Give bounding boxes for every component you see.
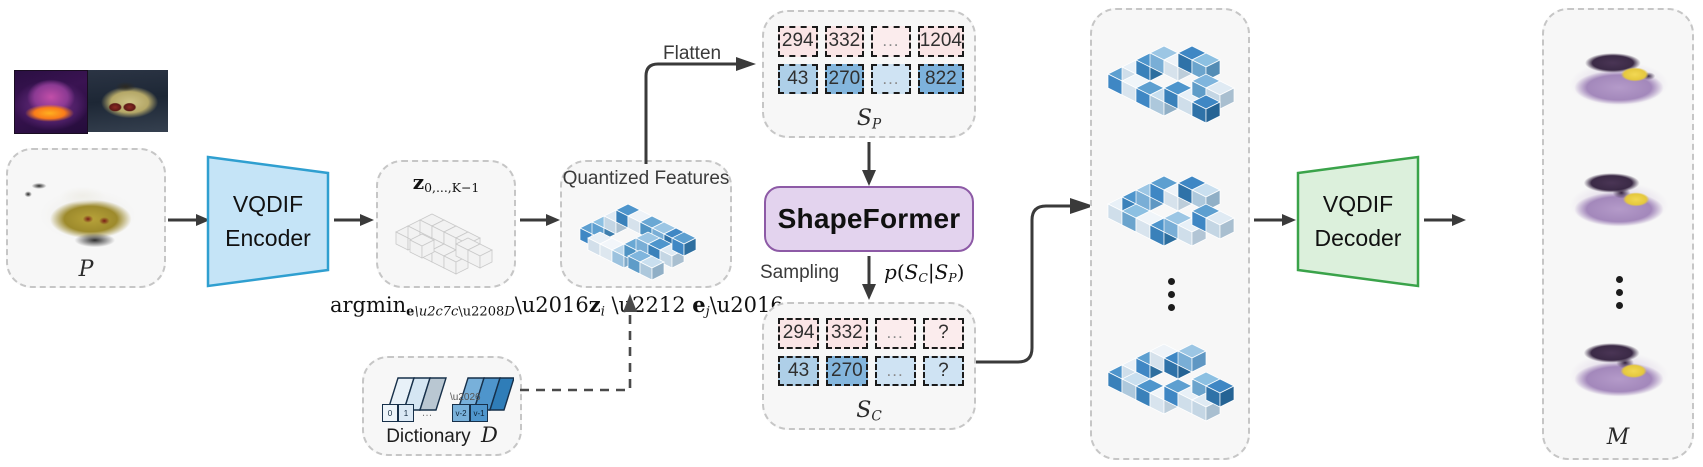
mesh-sample-1 (1558, 40, 1680, 122)
encoder-label-line1: VQDIF (225, 188, 311, 221)
dictionary-cell-0: 0 (382, 404, 398, 422)
input-panel-label: P (8, 257, 164, 282)
sc-cell-r0c2: ... (875, 318, 916, 349)
point-cloud-render (20, 162, 156, 254)
shapeformer-block[interactable]: ShapeFormer (764, 186, 974, 252)
sp-symbol: S (857, 106, 872, 131)
sp-cell-r0c0: 294 (778, 26, 818, 57)
sampling-label: Sampling (760, 262, 839, 284)
figure-canvas: P VQDIF Encoder z0,...,K−1 (0, 0, 1703, 467)
mesh-sample-2 (1558, 160, 1680, 242)
sequence-sp-grid: 294 332 ... 1204 43 270 ... 822 (778, 26, 964, 94)
sequence-sc-panel: 294 332 ... ? 43 270 ... ? SC (762, 302, 976, 430)
sampled-voxel-panel (1090, 8, 1250, 460)
latent-voxel-render (386, 196, 510, 282)
arrow-input-to-encoder (168, 212, 210, 228)
mesh-sample-3 (1558, 330, 1680, 412)
dictionary-cell-1: 1 (398, 404, 414, 422)
rgb-photo-image (88, 70, 168, 132)
decoder-label: VQDIF Decoder (1315, 188, 1402, 255)
sc-cell-r0c1: 332 (826, 318, 867, 349)
flatten-label: Flatten (663, 43, 721, 65)
sp-cell-r1c0: 43 (778, 64, 818, 95)
dictionary-label: Dictionary (386, 426, 470, 447)
quantized-features-title: Quantized Features (562, 168, 730, 190)
sc-cell-r1c2: ... (875, 356, 916, 387)
sequence-sp-panel: 294 332 ... 1204 43 270 ... 822 SP (762, 10, 976, 138)
sc-cell-r1c1: 270 (826, 356, 867, 387)
dictionary-panel: \u2026 0 1 … v-2 v-1 Dictionary D (362, 356, 522, 456)
sampling-probability: p(SC|SP) (884, 260, 964, 285)
output-panel-label: M (1544, 425, 1692, 450)
sequence-sc-grid: 294 332 ... ? 43 270 ... ? (778, 318, 964, 386)
sc-cell-r0c3: ? (923, 318, 964, 349)
arrow-decoder-to-output (1424, 212, 1466, 228)
arrow-sc-to-samples (976, 198, 1096, 368)
sc-cell-r1c0: 43 (778, 356, 819, 387)
dictionary-cell-v-1: v-1 (470, 404, 488, 422)
voxel-sample-3 (1100, 328, 1246, 438)
dictionary-cell-ellipsis: … (418, 404, 436, 422)
arrow-encoder-to-latent (334, 212, 374, 228)
depth-map-image (14, 70, 88, 134)
samples-vertical-ellipsis (1168, 278, 1175, 311)
decoder-label-line2: Decoder (1315, 222, 1402, 255)
sequence-sp-label: SP (764, 106, 974, 132)
svg-text:\u2026: \u2026 (450, 392, 481, 403)
sc-subscript: C (871, 408, 881, 424)
dictionary-cell-v-2: v-2 (452, 404, 470, 422)
sc-symbol: S (856, 398, 871, 423)
vqdif-encoder-block[interactable]: VQDIF Encoder (206, 155, 330, 288)
latent-features-panel: z0,...,K−1 (376, 160, 516, 288)
encoder-label: VQDIF Encoder (225, 188, 311, 255)
arrow-dictionary-to-quantized (520, 288, 660, 408)
sp-subscript: P (872, 116, 881, 132)
sp-cell-r1c2: ... (871, 64, 911, 95)
vqdif-decoder-block[interactable]: VQDIF Decoder (1296, 155, 1420, 288)
latent-panel-title: z0,...,K−1 (378, 170, 514, 195)
voxel-sample-1 (1100, 34, 1246, 134)
latent-z-subscript: 0,...,K−1 (424, 180, 479, 195)
input-point-cloud-panel: P (6, 148, 166, 288)
dictionary-symbol: D (481, 423, 498, 447)
encoder-label-line2: Encoder (225, 222, 311, 255)
output-mesh-panel: M (1542, 8, 1694, 460)
dictionary-label-row: Dictionary D (364, 423, 520, 448)
sc-cell-r1c3: ? (923, 356, 964, 387)
output-vertical-ellipsis (1616, 276, 1623, 309)
quantized-features-panel: Quantized Features (560, 160, 732, 288)
quantized-voxel-render (570, 194, 726, 286)
sp-cell-r0c2: ... (871, 26, 911, 57)
sp-cell-r0c1: 332 (825, 26, 865, 57)
sp-cell-r1c1: 270 (825, 64, 865, 95)
sequence-sc-label: SC (764, 398, 974, 424)
shapeformer-label: ShapeFormer (778, 203, 961, 235)
decoder-label-line1: VQDIF (1315, 188, 1402, 221)
sc-cell-r0c0: 294 (778, 318, 819, 349)
latent-z-symbol: z (413, 170, 424, 194)
sp-cell-r0c3: 1204 (918, 26, 964, 57)
arrow-shapeformer-to-sc (860, 256, 878, 300)
arrow-samples-to-decoder (1254, 212, 1296, 228)
sp-cell-r1c3: 822 (918, 64, 964, 95)
arrow-latent-to-quantized (520, 212, 560, 228)
arrow-sp-to-shapeformer (860, 142, 878, 186)
voxel-sample-2 (1100, 160, 1246, 260)
